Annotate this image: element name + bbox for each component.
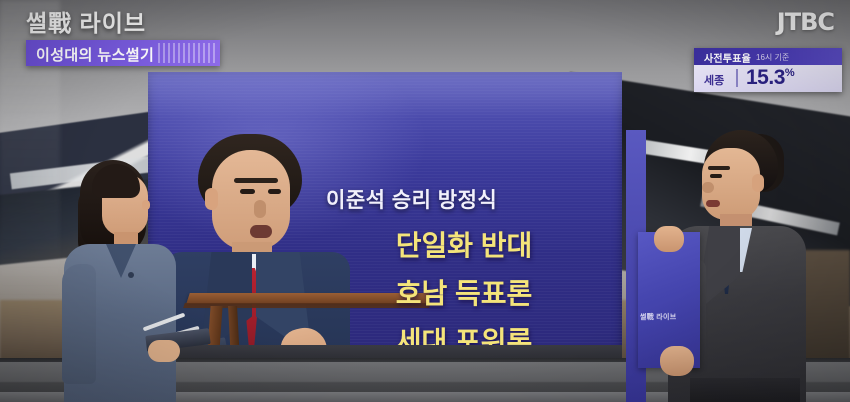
anchor-right-hand-upper: [654, 226, 684, 252]
anchor-left: [62, 160, 182, 402]
broadcast-screenshot: 이준석 승리 방정식 단일화 반대 호남 득표론 세대 포위론: [0, 0, 850, 402]
anchor-left-arm: [62, 264, 96, 384]
photo-eye-left: [240, 189, 255, 194]
anchor-right-mouth: [706, 200, 720, 207]
studio-led-wall: 이준석 승리 방정식 단일화 반대 호남 득표론 세대 포위론: [148, 72, 622, 388]
network-logo: JTBC: [777, 8, 834, 36]
wall-bullet-1: 단일화 반대: [334, 232, 594, 260]
poll-ticker-label: 사전투표율: [704, 50, 751, 65]
program-logo: 썰戰 라이브: [26, 4, 146, 38]
poll-value-unit: %: [785, 67, 794, 79]
photo-eyebrow: [234, 178, 278, 183]
photo-mouth: [250, 225, 272, 238]
anchor-right-ear: [752, 174, 764, 192]
photo-nose: [254, 200, 266, 218]
anchor-right-legs: [690, 378, 800, 402]
banner-stripe-decoration: [158, 43, 216, 63]
anchor-right-hand-lower: [660, 346, 694, 376]
poll-ticker: 사전투표율 16시 기준 세종 15.3%: [694, 48, 842, 92]
poll-value: 15.3%: [746, 66, 794, 90]
handheld-board-label: 썰戰 라이브: [640, 312, 698, 322]
poll-ticker-divider: [736, 69, 738, 87]
wall-headline: 이준석 승리 방정식: [326, 184, 497, 214]
poll-ticker-timestamp: 16시 기준: [756, 52, 789, 63]
anchor-right-eyebrow: [708, 166, 730, 170]
anchor-left-nose: [142, 200, 150, 210]
photo-eye-right: [268, 189, 281, 194]
poll-ticker-body: 세종 15.3%: [694, 65, 842, 92]
anchor-left-lapel-mic: [128, 272, 134, 278]
photo-ear: [205, 188, 218, 210]
poll-region-label: 세종: [704, 72, 724, 88]
segment-banner: 이성대의 뉴스썰기: [26, 40, 220, 66]
wall-bullet-2: 호남 득표론: [334, 280, 594, 308]
anchor-right: 썰戰 라이브: [660, 130, 810, 402]
segment-banner-label: 이성대의 뉴스썰기: [36, 44, 154, 65]
anchor-right-eye: [710, 174, 722, 178]
poll-value-number: 15.3: [746, 66, 785, 89]
anchor-right-nose: [702, 182, 714, 193]
poll-ticker-header: 사전투표율 16시 기준: [694, 48, 842, 65]
anchor-left-hand: [148, 340, 180, 362]
